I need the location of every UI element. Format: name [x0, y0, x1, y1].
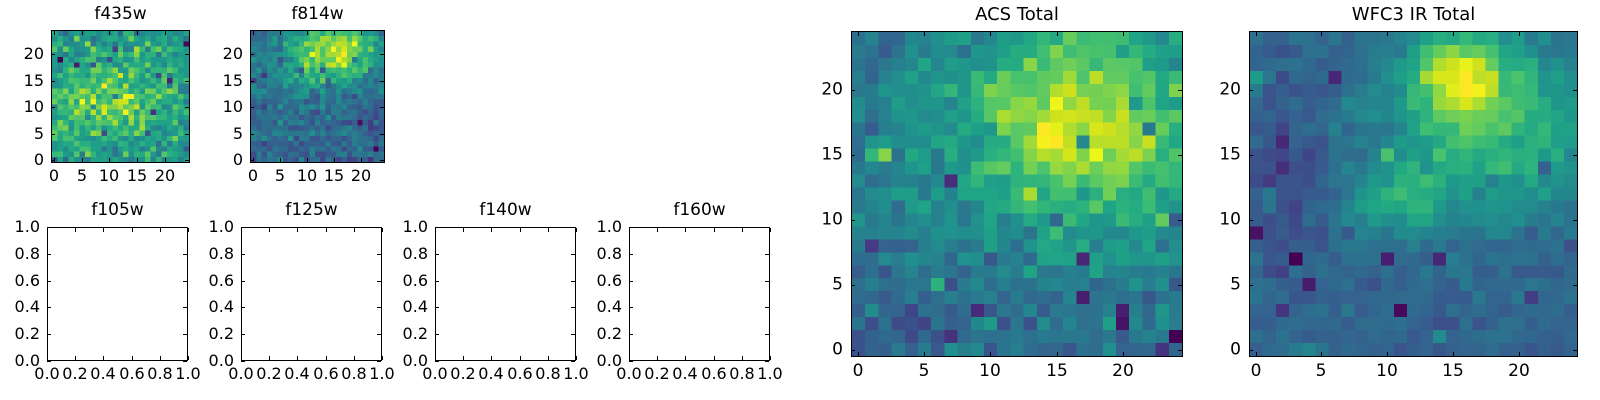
- xtick-f105w-1: [75, 356, 76, 360]
- ytick-f140w-3: [435, 281, 439, 282]
- yticklabel-f125w-0: 0.0: [0, 353, 234, 369]
- yticklabel-f105w-0: 0.0: [0, 353, 40, 369]
- xticklabel-f140w-3: 0.6: [507, 366, 532, 382]
- ytick-f125w-5: [241, 227, 245, 228]
- yticklabel-wfc3-ir-total-4: 20: [0, 82, 1241, 99]
- ytick-right-acs-total-3: [1178, 155, 1182, 156]
- ytick-f435w-0: [51, 160, 55, 161]
- xticklabel-f105w-5: 1.0: [175, 366, 200, 382]
- ytick-right-f125w-0: [377, 361, 381, 362]
- axes-f435w: [51, 30, 190, 163]
- subplot-f160w: f160w0.00.20.40.60.81.00.00.20.40.60.81.…: [0, 0, 1600, 400]
- figure-canvas: f435w0510152005101520f814w05101520051015…: [0, 0, 1600, 400]
- xtick-top-f160w-4: [742, 228, 743, 232]
- xtick-acs-total-3: [1057, 352, 1058, 356]
- ytick-right-wfc3-ir-total-4: [1573, 90, 1577, 91]
- xtick-top-f435w-3: [137, 31, 138, 35]
- ytick-right-f140w-5: [571, 227, 575, 228]
- ytick-f814w-0: [250, 160, 254, 161]
- ytick-f125w-2: [241, 307, 245, 308]
- xtick-f435w-2: [109, 158, 110, 162]
- xtick-f160w-5: [770, 356, 771, 360]
- yticklabel-f160w-2: 0.4: [0, 299, 622, 315]
- xtick-top-acs-total-1: [924, 32, 925, 36]
- ytick-wfc3-ir-total-1: [1249, 285, 1253, 286]
- yticklabel-f814w-3: 15: [0, 73, 243, 89]
- ytick-f105w-4: [47, 254, 51, 255]
- yticklabel-acs-total-0: 0: [0, 342, 843, 359]
- xtick-top-wfc3-ir-total-4: [1519, 32, 1520, 36]
- xtick-top-f140w-4: [548, 228, 549, 232]
- ytick-right-f125w-2: [377, 307, 381, 308]
- yticklabel-f160w-3: 0.6: [0, 273, 622, 289]
- yticklabel-acs-total-4: 20: [0, 82, 843, 99]
- subplot-wfc3-ir-total: WFC3 IR Total0510152005101520: [0, 0, 1600, 400]
- ytick-acs-total-4: [851, 90, 855, 91]
- axes-f125w: [241, 227, 382, 361]
- ytick-f140w-1: [435, 334, 439, 335]
- yticklabel-f125w-3: 0.6: [0, 273, 234, 289]
- yticklabel-f140w-4: 0.8: [0, 246, 428, 262]
- yticklabel-f140w-3: 0.6: [0, 273, 428, 289]
- yticklabel-f435w-0: 0: [0, 152, 44, 168]
- xtick-top-f160w-0: [629, 228, 630, 232]
- xticklabel-f435w-4: 20: [155, 168, 175, 184]
- axes-f140w: [435, 227, 576, 361]
- xtick-f814w-2: [307, 158, 308, 162]
- ytick-f160w-5: [629, 227, 633, 228]
- xticklabel-f160w-3: 0.6: [701, 366, 726, 382]
- heatmap-image-f435w: [52, 31, 189, 162]
- subplot-f105w: f105w0.00.20.40.60.81.00.00.20.40.60.81.…: [0, 0, 1600, 400]
- xticklabel-f105w-2: 0.4: [90, 366, 115, 382]
- xtick-top-f140w-2: [491, 228, 492, 232]
- ytick-right-f140w-2: [571, 307, 575, 308]
- xtick-top-f814w-3: [334, 31, 335, 35]
- subplot-title-f435w: f435w: [51, 6, 190, 23]
- xtick-f160w-1: [657, 356, 658, 360]
- yticklabel-acs-total-3: 15: [0, 147, 843, 164]
- xtick-f105w-5: [188, 356, 189, 360]
- ytick-f105w-3: [47, 281, 51, 282]
- subplot-title-f125w: f125w: [241, 202, 382, 219]
- xtick-top-f140w-1: [463, 228, 464, 232]
- yticklabel-acs-total-2: 10: [0, 212, 843, 229]
- ytick-right-f814w-0: [380, 160, 384, 161]
- yticklabel-f140w-1: 0.2: [0, 326, 428, 342]
- xticklabel-wfc3-ir-total-4: 20: [1508, 363, 1530, 380]
- ytick-f140w-5: [435, 227, 439, 228]
- ytick-f435w-1: [51, 134, 55, 135]
- xtick-f814w-3: [334, 158, 335, 162]
- xtick-top-f814w-1: [280, 31, 281, 35]
- yticklabel-acs-total-1: 5: [0, 277, 843, 294]
- xtick-top-f125w-4: [354, 228, 355, 232]
- ytick-f814w-2: [250, 107, 254, 108]
- yticklabel-f814w-2: 10: [0, 99, 243, 115]
- axes-f105w: [47, 227, 188, 361]
- xticklabel-acs-total-4: 20: [1112, 363, 1134, 380]
- xticklabel-f435w-2: 10: [99, 168, 119, 184]
- ytick-right-f125w-3: [377, 281, 381, 282]
- yticklabel-f435w-4: 20: [0, 46, 44, 62]
- xticklabel-f105w-3: 0.6: [119, 366, 144, 382]
- ytick-right-acs-total-2: [1178, 220, 1182, 221]
- xtick-f125w-3: [326, 356, 327, 360]
- xtick-f140w-2: [491, 356, 492, 360]
- ytick-right-f105w-3: [183, 281, 187, 282]
- yticklabel-f105w-3: 0.6: [0, 273, 40, 289]
- ytick-f105w-5: [47, 227, 51, 228]
- xtick-top-f105w-1: [75, 228, 76, 232]
- yticklabel-f140w-0: 0.0: [0, 353, 428, 369]
- yticklabel-f140w-2: 0.4: [0, 299, 428, 315]
- xtick-top-f125w-3: [326, 228, 327, 232]
- ytick-f125w-4: [241, 254, 245, 255]
- xtick-top-f105w-5: [188, 228, 189, 232]
- xticklabel-f435w-1: 5: [77, 168, 87, 184]
- xticklabel-wfc3-ir-total-0: 0: [1251, 363, 1262, 380]
- xtick-f140w-1: [463, 356, 464, 360]
- xtick-top-acs-total-4: [1123, 32, 1124, 36]
- ytick-wfc3-ir-total-3: [1249, 155, 1253, 156]
- xticklabel-f105w-4: 0.8: [147, 366, 172, 382]
- yticklabel-wfc3-ir-total-1: 5: [0, 277, 1241, 294]
- xtick-top-acs-total-0: [858, 32, 859, 36]
- heatmap-image-wfc3-ir-total: [1250, 32, 1577, 356]
- xtick-top-f435w-4: [165, 31, 166, 35]
- yticklabel-f105w-5: 1.0: [0, 219, 40, 235]
- subplot-title-f140w: f140w: [435, 202, 576, 219]
- subplot-f125w: f125w0.00.20.40.60.81.00.00.20.40.60.81.…: [0, 0, 1600, 400]
- xtick-top-wfc3-ir-total-2: [1387, 32, 1388, 36]
- ytick-right-f814w-3: [380, 81, 384, 82]
- subplot-title-f105w: f105w: [47, 202, 188, 219]
- ytick-right-f435w-1: [185, 134, 189, 135]
- xtick-top-f125w-1: [269, 228, 270, 232]
- ytick-f435w-3: [51, 81, 55, 82]
- ytick-right-f160w-5: [765, 227, 769, 228]
- ytick-right-f140w-3: [571, 281, 575, 282]
- subplot-title-f814w: f814w: [250, 6, 385, 23]
- xtick-top-f105w-0: [47, 228, 48, 232]
- xtick-acs-total-0: [858, 352, 859, 356]
- ytick-f125w-0: [241, 361, 245, 362]
- xtick-acs-total-4: [1123, 352, 1124, 356]
- ytick-right-f140w-0: [571, 361, 575, 362]
- ytick-right-wfc3-ir-total-1: [1573, 285, 1577, 286]
- xtick-top-f160w-3: [714, 228, 715, 232]
- ytick-right-f435w-0: [185, 160, 189, 161]
- ytick-acs-total-0: [851, 350, 855, 351]
- xticklabel-f105w-0: 0.0: [34, 366, 59, 382]
- ytick-right-f125w-5: [377, 227, 381, 228]
- ytick-right-f160w-4: [765, 254, 769, 255]
- heatmap-image-acs-total: [852, 32, 1182, 356]
- xtick-top-f105w-3: [132, 228, 133, 232]
- yticklabel-f105w-1: 0.2: [0, 326, 40, 342]
- xticklabel-f125w-5: 1.0: [369, 366, 394, 382]
- yticklabel-f814w-1: 5: [0, 126, 243, 142]
- ytick-right-wfc3-ir-total-2: [1573, 220, 1577, 221]
- xtick-f160w-4: [742, 356, 743, 360]
- ytick-f125w-3: [241, 281, 245, 282]
- ytick-acs-total-2: [851, 220, 855, 221]
- xticklabel-f160w-1: 0.2: [644, 366, 669, 382]
- ytick-right-f435w-4: [185, 54, 189, 55]
- xtick-f105w-4: [160, 356, 161, 360]
- xtick-f125w-0: [241, 356, 242, 360]
- xtick-top-f814w-2: [307, 31, 308, 35]
- xtick-f105w-2: [103, 356, 104, 360]
- ytick-f140w-4: [435, 254, 439, 255]
- ytick-f140w-0: [435, 361, 439, 362]
- xtick-f140w-3: [520, 356, 521, 360]
- xticklabel-acs-total-2: 10: [979, 363, 1001, 380]
- yticklabel-f435w-2: 10: [0, 99, 44, 115]
- xtick-f435w-1: [82, 158, 83, 162]
- xtick-f435w-4: [165, 158, 166, 162]
- xtick-top-f140w-0: [435, 228, 436, 232]
- xtick-acs-total-2: [990, 352, 991, 356]
- xticklabel-acs-total-0: 0: [853, 363, 864, 380]
- heatmap-image-f814w: [251, 31, 384, 162]
- xtick-top-f435w-0: [54, 31, 55, 35]
- xticklabel-acs-total-3: 15: [1046, 363, 1068, 380]
- xticklabel-f140w-1: 0.2: [450, 366, 475, 382]
- xtick-top-f160w-5: [770, 228, 771, 232]
- xtick-wfc3-ir-total-1: [1321, 352, 1322, 356]
- yticklabel-f435w-1: 5: [0, 126, 44, 142]
- ytick-f105w-1: [47, 334, 51, 335]
- yticklabel-f160w-1: 0.2: [0, 326, 622, 342]
- xticklabel-f140w-0: 0.0: [422, 366, 447, 382]
- yticklabel-wfc3-ir-total-2: 10: [0, 212, 1241, 229]
- ytick-right-f435w-2: [185, 107, 189, 108]
- ytick-right-f105w-2: [183, 307, 187, 308]
- xtick-f140w-0: [435, 356, 436, 360]
- ytick-f125w-1: [241, 334, 245, 335]
- xticklabel-f814w-2: 10: [297, 168, 317, 184]
- ytick-f105w-2: [47, 307, 51, 308]
- xtick-wfc3-ir-total-4: [1519, 352, 1520, 356]
- xticklabel-f160w-2: 0.4: [672, 366, 697, 382]
- subplot-title-wfc3-ir-total: WFC3 IR Total: [1249, 6, 1578, 24]
- xtick-f435w-0: [54, 158, 55, 162]
- yticklabel-wfc3-ir-total-0: 0: [0, 342, 1241, 359]
- xtick-top-f105w-2: [103, 228, 104, 232]
- ytick-right-wfc3-ir-total-3: [1573, 155, 1577, 156]
- ytick-acs-total-1: [851, 285, 855, 286]
- xticklabel-f125w-4: 0.8: [341, 366, 366, 382]
- xticklabel-f125w-1: 0.2: [256, 366, 281, 382]
- xticklabel-f814w-1: 5: [275, 168, 285, 184]
- ytick-right-f435w-3: [185, 81, 189, 82]
- ytick-right-f160w-0: [765, 361, 769, 362]
- xtick-top-f140w-5: [576, 228, 577, 232]
- ytick-right-acs-total-4: [1178, 90, 1182, 91]
- yticklabel-f125w-5: 1.0: [0, 219, 234, 235]
- xticklabel-f105w-1: 0.2: [62, 366, 87, 382]
- xtick-f125w-2: [297, 356, 298, 360]
- ytick-right-acs-total-0: [1178, 350, 1182, 351]
- xtick-top-wfc3-ir-total-1: [1321, 32, 1322, 36]
- xtick-f814w-4: [361, 158, 362, 162]
- xtick-f125w-1: [269, 356, 270, 360]
- xtick-top-f125w-0: [241, 228, 242, 232]
- yticklabel-f814w-4: 20: [0, 46, 243, 62]
- xticklabel-f160w-4: 0.8: [729, 366, 754, 382]
- xticklabel-f140w-2: 0.4: [478, 366, 503, 382]
- xtick-top-wfc3-ir-total-0: [1256, 32, 1257, 36]
- ytick-wfc3-ir-total-4: [1249, 90, 1253, 91]
- ytick-wfc3-ir-total-0: [1249, 350, 1253, 351]
- ytick-right-f160w-2: [765, 307, 769, 308]
- xtick-f105w-3: [132, 356, 133, 360]
- ytick-right-f160w-1: [765, 334, 769, 335]
- xtick-f435w-3: [137, 158, 138, 162]
- xtick-wfc3-ir-total-3: [1453, 352, 1454, 356]
- xtick-top-wfc3-ir-total-3: [1453, 32, 1454, 36]
- ytick-acs-total-3: [851, 155, 855, 156]
- xticklabel-f125w-3: 0.6: [313, 366, 338, 382]
- ytick-f435w-4: [51, 54, 55, 55]
- xtick-top-f160w-1: [657, 228, 658, 232]
- ytick-f814w-3: [250, 81, 254, 82]
- ytick-right-f105w-4: [183, 254, 187, 255]
- ytick-wfc3-ir-total-2: [1249, 220, 1253, 221]
- yticklabel-f814w-0: 0: [0, 152, 243, 168]
- ytick-f814w-1: [250, 134, 254, 135]
- xticklabel-f435w-3: 15: [127, 168, 147, 184]
- ytick-f140w-2: [435, 307, 439, 308]
- xtick-top-f160w-2: [685, 228, 686, 232]
- yticklabel-wfc3-ir-total-3: 15: [0, 147, 1241, 164]
- xticklabel-f160w-0: 0.0: [616, 366, 641, 382]
- xticklabel-f125w-0: 0.0: [228, 366, 253, 382]
- xtick-f140w-4: [548, 356, 549, 360]
- xticklabel-wfc3-ir-total-2: 10: [1376, 363, 1398, 380]
- yticklabel-f160w-0: 0.0: [0, 353, 622, 369]
- xticklabel-f814w-0: 0: [248, 168, 258, 184]
- yticklabel-f125w-4: 0.8: [0, 246, 234, 262]
- xticklabel-f160w-5: 1.0: [757, 366, 782, 382]
- yticklabel-f125w-2: 0.4: [0, 299, 234, 315]
- xtick-top-f814w-0: [253, 31, 254, 35]
- ytick-right-f105w-0: [183, 361, 187, 362]
- xtick-top-f105w-4: [160, 228, 161, 232]
- ytick-right-f140w-4: [571, 254, 575, 255]
- xticklabel-wfc3-ir-total-1: 5: [1316, 363, 1327, 380]
- xtick-f160w-2: [685, 356, 686, 360]
- xtick-top-f814w-4: [361, 31, 362, 35]
- xtick-f105w-0: [47, 356, 48, 360]
- xtick-wfc3-ir-total-0: [1256, 352, 1257, 356]
- ytick-right-f125w-4: [377, 254, 381, 255]
- ytick-right-wfc3-ir-total-0: [1573, 350, 1577, 351]
- xtick-f814w-1: [280, 158, 281, 162]
- xtick-f160w-0: [629, 356, 630, 360]
- axes-f814w: [250, 30, 385, 163]
- subplot-f435w: f435w0510152005101520: [0, 0, 1600, 400]
- ytick-right-f105w-5: [183, 227, 187, 228]
- ytick-f435w-2: [51, 107, 55, 108]
- ytick-f160w-4: [629, 254, 633, 255]
- xtick-f814w-0: [253, 158, 254, 162]
- ytick-right-f814w-4: [380, 54, 384, 55]
- xtick-f140w-5: [576, 356, 577, 360]
- ytick-right-f814w-2: [380, 107, 384, 108]
- ytick-right-acs-total-1: [1178, 285, 1182, 286]
- yticklabel-f125w-1: 0.2: [0, 326, 234, 342]
- axes-f160w: [629, 227, 770, 361]
- ytick-f105w-0: [47, 361, 51, 362]
- yticklabel-f140w-5: 1.0: [0, 219, 428, 235]
- xtick-top-acs-total-3: [1057, 32, 1058, 36]
- xticklabel-wfc3-ir-total-3: 15: [1442, 363, 1464, 380]
- xtick-top-acs-total-2: [990, 32, 991, 36]
- ytick-right-f125w-1: [377, 334, 381, 335]
- xtick-f125w-4: [354, 356, 355, 360]
- ytick-f814w-4: [250, 54, 254, 55]
- ytick-right-f160w-3: [765, 281, 769, 282]
- subplot-title-acs-total: ACS Total: [851, 6, 1183, 24]
- xtick-acs-total-1: [924, 352, 925, 356]
- xtick-top-f125w-5: [382, 228, 383, 232]
- subplot-acs-total: ACS Total0510152005101520: [0, 0, 1600, 400]
- xticklabel-f435w-0: 0: [49, 168, 59, 184]
- subplot-f140w: f140w0.00.20.40.60.81.00.00.20.40.60.81.…: [0, 0, 1600, 400]
- xticklabel-f125w-2: 0.4: [284, 366, 309, 382]
- ytick-f160w-3: [629, 281, 633, 282]
- xtick-top-f140w-3: [520, 228, 521, 232]
- ytick-right-f105w-1: [183, 334, 187, 335]
- ytick-right-f140w-1: [571, 334, 575, 335]
- xtick-f160w-3: [714, 356, 715, 360]
- yticklabel-f160w-4: 0.8: [0, 246, 622, 262]
- xticklabel-f814w-4: 20: [351, 168, 371, 184]
- xtick-top-f435w-2: [109, 31, 110, 35]
- xtick-wfc3-ir-total-2: [1387, 352, 1388, 356]
- xticklabel-acs-total-1: 5: [919, 363, 930, 380]
- xticklabel-f140w-4: 0.8: [535, 366, 560, 382]
- xtick-top-f435w-1: [82, 31, 83, 35]
- axes-acs-total: [851, 31, 1183, 357]
- yticklabel-f435w-3: 15: [0, 73, 44, 89]
- xticklabel-f140w-5: 1.0: [563, 366, 588, 382]
- ytick-f160w-0: [629, 361, 633, 362]
- yticklabel-f160w-5: 1.0: [0, 219, 622, 235]
- ytick-f160w-2: [629, 307, 633, 308]
- yticklabel-f105w-2: 0.4: [0, 299, 40, 315]
- axes-wfc3-ir-total: [1249, 31, 1578, 357]
- ytick-right-f814w-1: [380, 134, 384, 135]
- xtick-top-f125w-2: [297, 228, 298, 232]
- subplot-f814w: f814w0510152005101520: [0, 0, 1600, 400]
- subplot-title-f160w: f160w: [629, 202, 770, 219]
- xtick-f125w-5: [382, 356, 383, 360]
- yticklabel-f105w-4: 0.8: [0, 246, 40, 262]
- xticklabel-f814w-3: 15: [324, 168, 344, 184]
- ytick-f160w-1: [629, 334, 633, 335]
